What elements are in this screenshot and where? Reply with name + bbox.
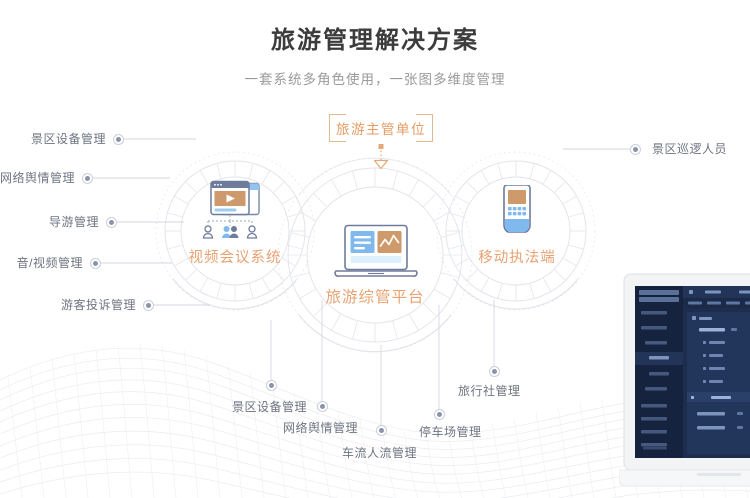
authority-box[interactable]: 旅游主管单位 [329, 114, 433, 142]
node-dot-bottom-5[interactable] [489, 366, 500, 377]
page-header: 旅游管理解决方案 一套系统多角色使用，一张图多维度管理 [0, 24, 750, 91]
node-dot-left-1[interactable] [113, 134, 124, 145]
page-subtitle: 一套系统多角色使用，一张图多维度管理 [0, 69, 750, 91]
node-dot-bottom-1[interactable] [266, 380, 277, 391]
node-title-video: 视频会议系统 [175, 246, 295, 267]
label-right-1: 景区巡逻人员 [652, 142, 727, 156]
laptop-mockup [619, 256, 750, 498]
node-dot-bottom-3[interactable] [376, 425, 387, 436]
label-left-1: 景区设备管理 [0, 132, 106, 146]
node-title-platform: 旅游综管平台 [315, 285, 435, 307]
node-dot-bottom-4[interactable] [434, 409, 445, 420]
label-left-4: 音/视频管理 [0, 256, 83, 270]
arrow-down-icon [369, 144, 393, 170]
label-left-3: 导游管理 [0, 215, 99, 229]
label-bottom-4: 停车场管理 [419, 425, 482, 439]
node-dot-right-1[interactable] [630, 144, 641, 155]
node-dot-left-4[interactable] [90, 258, 101, 269]
node-dot-left-2[interactable] [82, 173, 93, 184]
label-bottom-3: 车流人流管理 [342, 446, 417, 460]
node-dot-bottom-2[interactable] [317, 401, 328, 412]
label-bottom-2: 网络舆情管理 [283, 421, 358, 435]
node-dot-left-5[interactable] [143, 300, 154, 311]
node-title-mobile: 移动执法端 [462, 246, 572, 267]
video-conference-icon [197, 180, 273, 244]
label-bottom-1: 景区设备管理 [232, 400, 307, 414]
authority-label: 旅游主管单位 [329, 114, 433, 142]
node-dot-left-3[interactable] [106, 217, 117, 228]
label-left-5: 游客投诉管理 [0, 298, 136, 312]
solution-diagram-page: 旅游管理解决方案 一套系统多角色使用，一张图多维度管理 [0, 0, 750, 498]
page-title: 旅游管理解决方案 [0, 24, 750, 58]
label-bottom-5: 旅行社管理 [458, 384, 521, 398]
mobile-device-icon [497, 185, 537, 242]
laptop-dashboard-icon [332, 224, 420, 282]
label-left-2: 网络舆情管理 [0, 171, 75, 185]
